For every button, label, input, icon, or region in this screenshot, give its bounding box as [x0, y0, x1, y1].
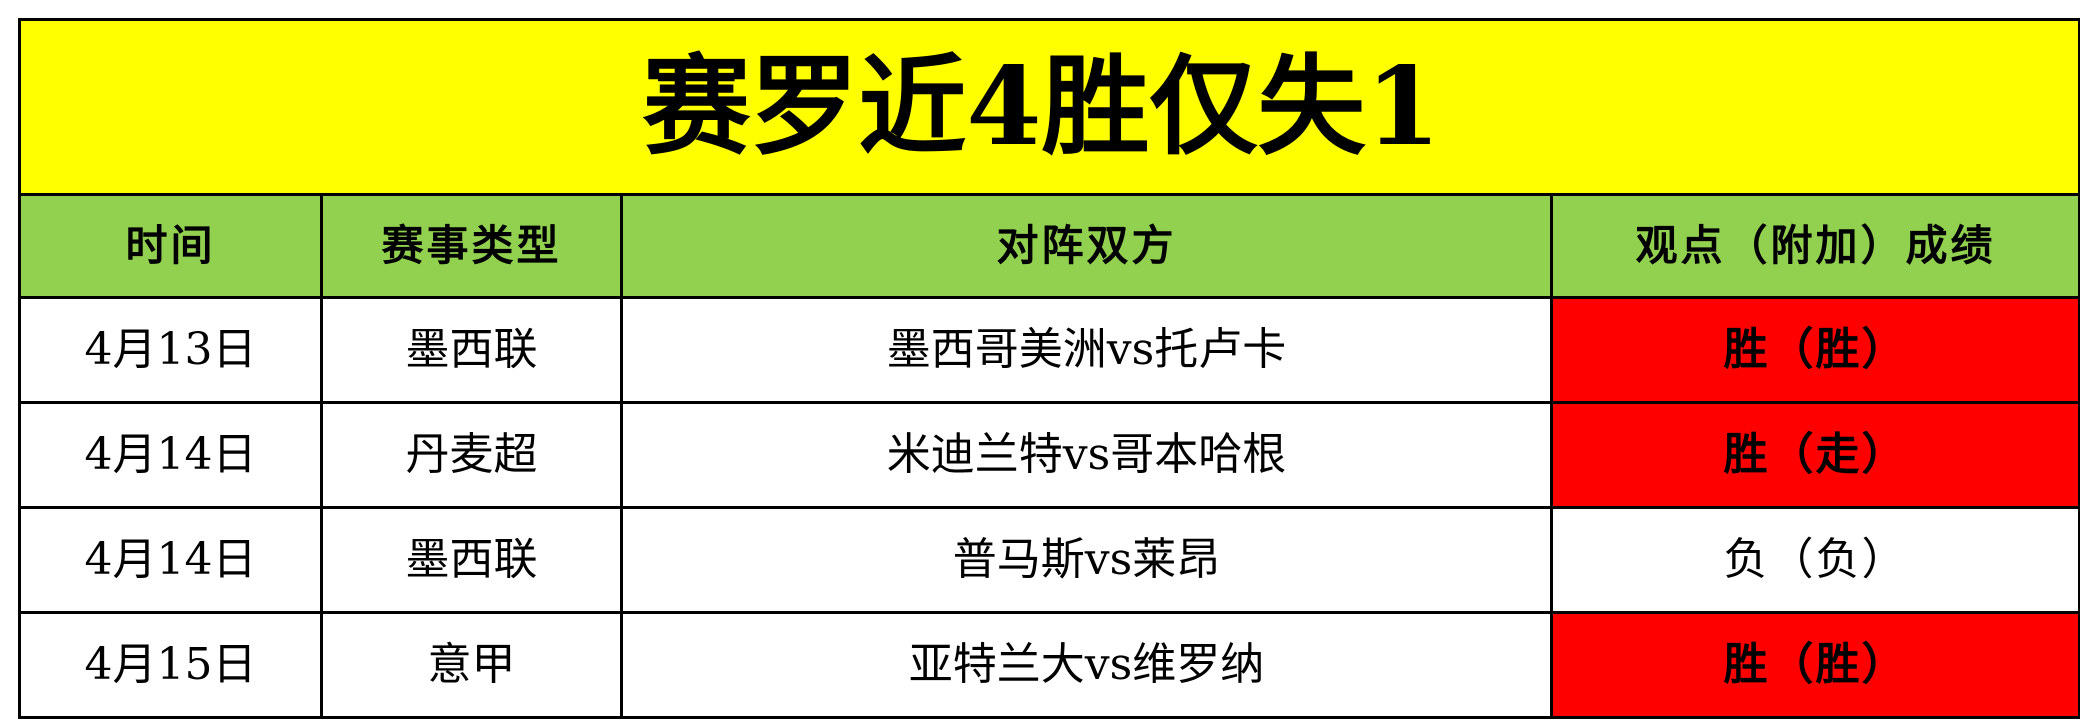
cell-match: 墨西哥美洲vs托卢卡 [622, 298, 1552, 403]
result-badge: 负（负） [1553, 537, 2078, 583]
cell-match: 普马斯vs莱昂 [622, 508, 1552, 613]
cell-date: 4月14日 [20, 403, 322, 508]
cell-league: 墨西联 [322, 508, 622, 613]
result-badge: 胜（胜） [1553, 642, 2078, 688]
date-value: 4月15日 [21, 642, 320, 688]
column-header-label: 观点（附加）成绩 [1553, 225, 2078, 267]
page-title: 赛罗近4胜仅失1 [13, 53, 2070, 161]
table-row: 4月13日 墨西联 墨西哥美洲vs托卢卡 胜（胜） [20, 298, 2080, 403]
column-header-date: 时间 [20, 195, 322, 298]
column-header-label: 对阵双方 [623, 225, 1550, 267]
match-value: 墨西哥美洲vs托卢卡 [623, 327, 1550, 373]
cell-match: 亚特兰大vs维罗纳 [622, 613, 1552, 718]
league-value: 意甲 [323, 642, 620, 688]
cell-date: 4月15日 [20, 613, 322, 718]
title-row: 赛罗近4胜仅失1 [20, 20, 2080, 195]
match-value: 米迪兰特vs哥本哈根 [623, 432, 1550, 478]
record-table: 赛罗近4胜仅失1 时间 赛事类型 对阵双方 观点（附加）成绩 [18, 18, 2080, 719]
cell-result: 胜（胜） [1552, 613, 2080, 718]
league-value: 墨西联 [323, 327, 620, 373]
cell-date: 4月14日 [20, 508, 322, 613]
cell-match: 米迪兰特vs哥本哈根 [622, 403, 1552, 508]
result-badge: 胜（走） [1553, 432, 2078, 478]
column-header-label: 时间 [21, 225, 320, 267]
table-row: 4月14日 墨西联 普马斯vs莱昂 负（负） [20, 508, 2080, 613]
table-header-row: 时间 赛事类型 对阵双方 观点（附加）成绩 [20, 195, 2080, 298]
match-value: 亚特兰大vs维罗纳 [623, 642, 1550, 688]
date-value: 4月14日 [21, 432, 320, 478]
column-header-match: 对阵双方 [622, 195, 1552, 298]
column-header-label: 赛事类型 [323, 225, 620, 267]
column-header-result: 观点（附加）成绩 [1552, 195, 2080, 298]
result-badge: 胜（胜） [1553, 327, 2078, 373]
match-value: 普马斯vs莱昂 [623, 537, 1550, 583]
cell-league: 丹麦超 [322, 403, 622, 508]
cell-date: 4月13日 [20, 298, 322, 403]
cell-result: 负（负） [1552, 508, 2080, 613]
column-header-league: 赛事类型 [322, 195, 622, 298]
table-row: 4月15日 意甲 亚特兰大vs维罗纳 胜（胜） [20, 613, 2080, 718]
date-value: 4月13日 [21, 327, 320, 373]
cell-league: 意甲 [322, 613, 622, 718]
cell-league: 墨西联 [322, 298, 622, 403]
cell-result: 胜（走） [1552, 403, 2080, 508]
title-banner: 赛罗近4胜仅失1 [20, 20, 2080, 195]
cell-result: 胜（胜） [1552, 298, 2080, 403]
date-value: 4月14日 [21, 537, 320, 583]
table-row: 4月14日 丹麦超 米迪兰特vs哥本哈根 胜（走） [20, 403, 2080, 508]
league-value: 墨西联 [323, 537, 620, 583]
spreadsheet-canvas: 赛罗近4胜仅失1 时间 赛事类型 对阵双方 观点（附加）成绩 [0, 0, 2080, 722]
league-value: 丹麦超 [323, 432, 620, 478]
